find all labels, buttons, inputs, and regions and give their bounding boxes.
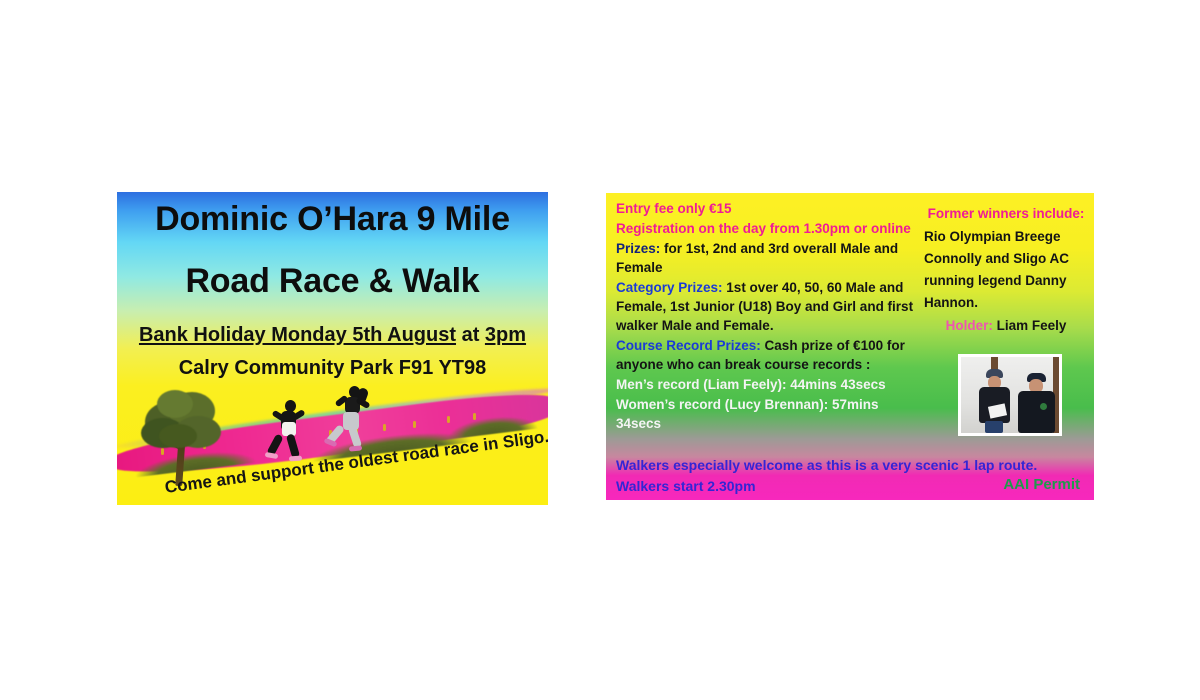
poster-left-date-line: Bank Holiday Monday 5th August at 3pm: [117, 324, 548, 347]
runner-icon: [325, 386, 383, 452]
registration-line: Registration on the day from 1.30pm or o…: [616, 219, 922, 238]
poster-left-title-line1: Dominic O’Hara 9 Mile: [117, 200, 548, 239]
start-time: 3pm: [485, 324, 526, 346]
course-record-prizes-label: Course Record Prizes:: [616, 338, 761, 353]
holder-line: Holder: Liam Feely: [924, 315, 1088, 337]
former-winners-heading: Former winners include:: [924, 203, 1088, 225]
former-winners-body: Rio Olympian Breege Connolly and Sligo A…: [924, 226, 1088, 314]
photo-person: [975, 369, 1015, 433]
winner-photo-image: [961, 357, 1059, 433]
entry-fee-line: Entry fee only €15: [616, 199, 922, 218]
grass-speck: [473, 413, 476, 420]
runner-shoe: [349, 445, 362, 451]
grass-speck: [383, 424, 386, 431]
runner-icon: [265, 400, 319, 462]
photo-person: [1016, 373, 1058, 433]
poster-left-venue: Calry Community Park F91 YT98: [117, 357, 548, 380]
runner-shoe: [265, 452, 279, 459]
tree-canopy: [159, 424, 197, 448]
grass-speck: [413, 421, 416, 428]
holder-label: Holder:: [946, 318, 993, 333]
poster-right-details-column: Entry fee only €15 Registration on the d…: [616, 199, 922, 434]
date-text: Bank Holiday Monday 5th August: [139, 324, 456, 346]
photo-person-legs: [985, 421, 1003, 433]
page-canvas: Dominic O’Hara 9 Mile Road Race & Walk B…: [0, 0, 1200, 700]
date-connector: at: [456, 324, 485, 346]
walkers-welcome-line: Walkers especially welcome as this is a …: [616, 455, 1086, 476]
category-prizes-label: Category Prizes:: [616, 280, 723, 295]
photo-person-jacket: [1018, 391, 1055, 433]
poster-right: Entry fee only €15 Registration on the d…: [606, 193, 1094, 500]
holder-name: Liam Feely: [993, 318, 1067, 333]
prizes-label: Prizes:: [616, 241, 660, 256]
poster-right-bottom-band: Walkers especially welcome as this is a …: [616, 455, 1086, 497]
aai-permit-label: AAI Permit: [1003, 476, 1080, 493]
prizes-line: Prizes: for 1st, 2nd and 3rd overall Mal…: [616, 239, 922, 277]
poster-left-illustration: Come and support the oldest road race in…: [117, 382, 548, 505]
photo-person-badge: [1040, 403, 1047, 410]
winner-photo: [958, 354, 1062, 436]
poster-left: Dominic O’Hara 9 Mile Road Race & Walk B…: [117, 192, 548, 505]
poster-right-winners-column: Former winners include: Rio Olympian Bre…: [924, 203, 1088, 338]
mens-record-line: Men’s record (Liam Feely): 44mins 43secs: [616, 375, 922, 394]
poster-left-title-line2: Road Race & Walk: [117, 262, 548, 301]
tree-canopy: [157, 390, 193, 418]
category-prizes-line: Category Prizes: 1st over 40, 50, 60 Mal…: [616, 278, 922, 335]
grass-speck: [447, 416, 450, 423]
womens-record-line: Women’s record (Lucy Brennan): 57mins 34…: [616, 395, 922, 433]
course-record-prizes-line: Course Record Prizes: Cash prize of €100…: [616, 336, 922, 374]
